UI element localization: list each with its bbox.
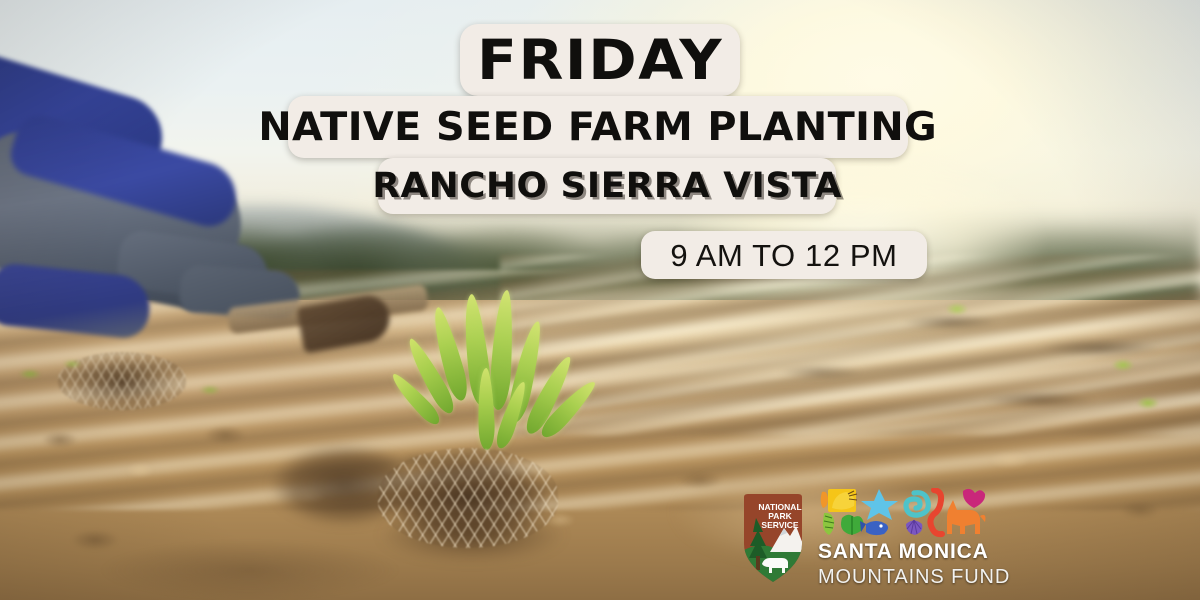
fish-icon: [866, 521, 888, 535]
event-title-pill: NATIVE SEED FARM PLANTING: [288, 96, 908, 158]
lizard-icon: [930, 490, 942, 534]
national-park-service-logo: NATIONAL PARK SERVICE: [740, 492, 806, 584]
smmf-icon-grid: [818, 488, 988, 538]
santa-monica-mountains-fund-logo: SANTA MONICA MOUNTAINS FUND: [818, 488, 1010, 587]
location-text: RANCHO SIERRA VISTA: [372, 169, 842, 204]
event-banner: FRIDAY NATIVE SEED FARM PLANTING RANCHO …: [0, 0, 1200, 600]
time-text: 9 AM TO 12 PM: [670, 240, 897, 271]
petal-icon: [821, 492, 828, 508]
snail-shell-icon: [906, 493, 928, 515]
nps-line3: SERVICE: [761, 520, 798, 530]
seedling-distant: [940, 300, 974, 318]
seedlings-left: [0, 350, 260, 430]
pinecone-icon: [823, 513, 834, 535]
event-title-text: NATIVE SEED FARM PLANTING: [259, 108, 938, 147]
logo-lockup: NATIONAL PARK SERVICE: [740, 486, 990, 590]
smmf-line2: MOUNTAINS FUND: [818, 567, 1010, 588]
wire-cage-center: [378, 448, 558, 548]
seedling-distant: [1100, 352, 1146, 378]
heart-icon: [963, 489, 985, 508]
headline-text: FRIDAY: [477, 33, 723, 88]
starfish-icon: [861, 489, 898, 520]
time-pill: 9 AM TO 12 PM: [641, 231, 927, 279]
seedling-distant: [1118, 388, 1178, 418]
smmf-line1: SANTA MONICA: [818, 541, 1010, 563]
headline-pill: FRIDAY: [460, 24, 740, 96]
location-pill: RANCHO SIERRA VISTA: [378, 158, 836, 214]
